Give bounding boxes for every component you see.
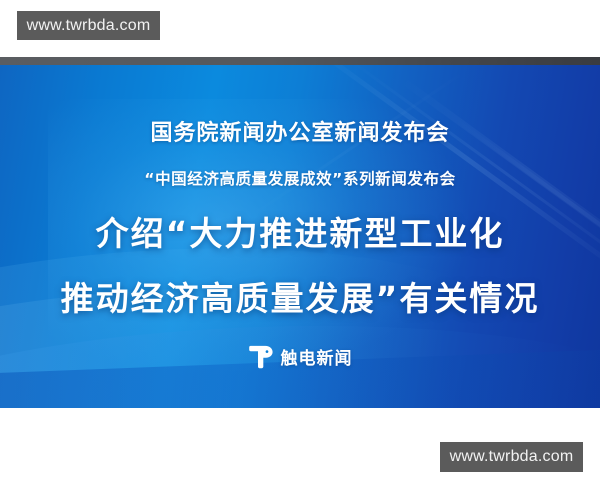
headline-line-2: 推动经济高质量发展”有关情况 xyxy=(61,272,540,320)
chudian-news-logo-icon xyxy=(248,345,274,369)
channel-name: 触电新闻 xyxy=(281,344,353,369)
banner-top-strip xyxy=(0,57,600,65)
channel-logo: 触电新闻 xyxy=(248,344,353,369)
watermark-badge-bottom: www.twrbda.com xyxy=(440,442,583,472)
organizer-title: 国务院新闻办公室新闻发布会 xyxy=(150,115,449,147)
watermark-bottom-text: www.twrbda.com xyxy=(450,448,574,466)
press-conference-banner: 国务院新闻办公室新闻发布会 “中国经济高质量发展成效”系列新闻发布会 介绍“大力… xyxy=(0,65,600,408)
watermark-badge-top: www.twrbda.com xyxy=(17,11,160,40)
series-subtitle: “中国经济高质量发展成效”系列新闻发布会 xyxy=(144,167,455,189)
banner-text-stack: 国务院新闻办公室新闻发布会 “中国经济高质量发展成效”系列新闻发布会 介绍“大力… xyxy=(0,65,600,408)
watermark-top-text: www.twrbda.com xyxy=(27,17,151,35)
headline-line-1: 介绍“大力推进新型工业化 xyxy=(96,207,505,255)
